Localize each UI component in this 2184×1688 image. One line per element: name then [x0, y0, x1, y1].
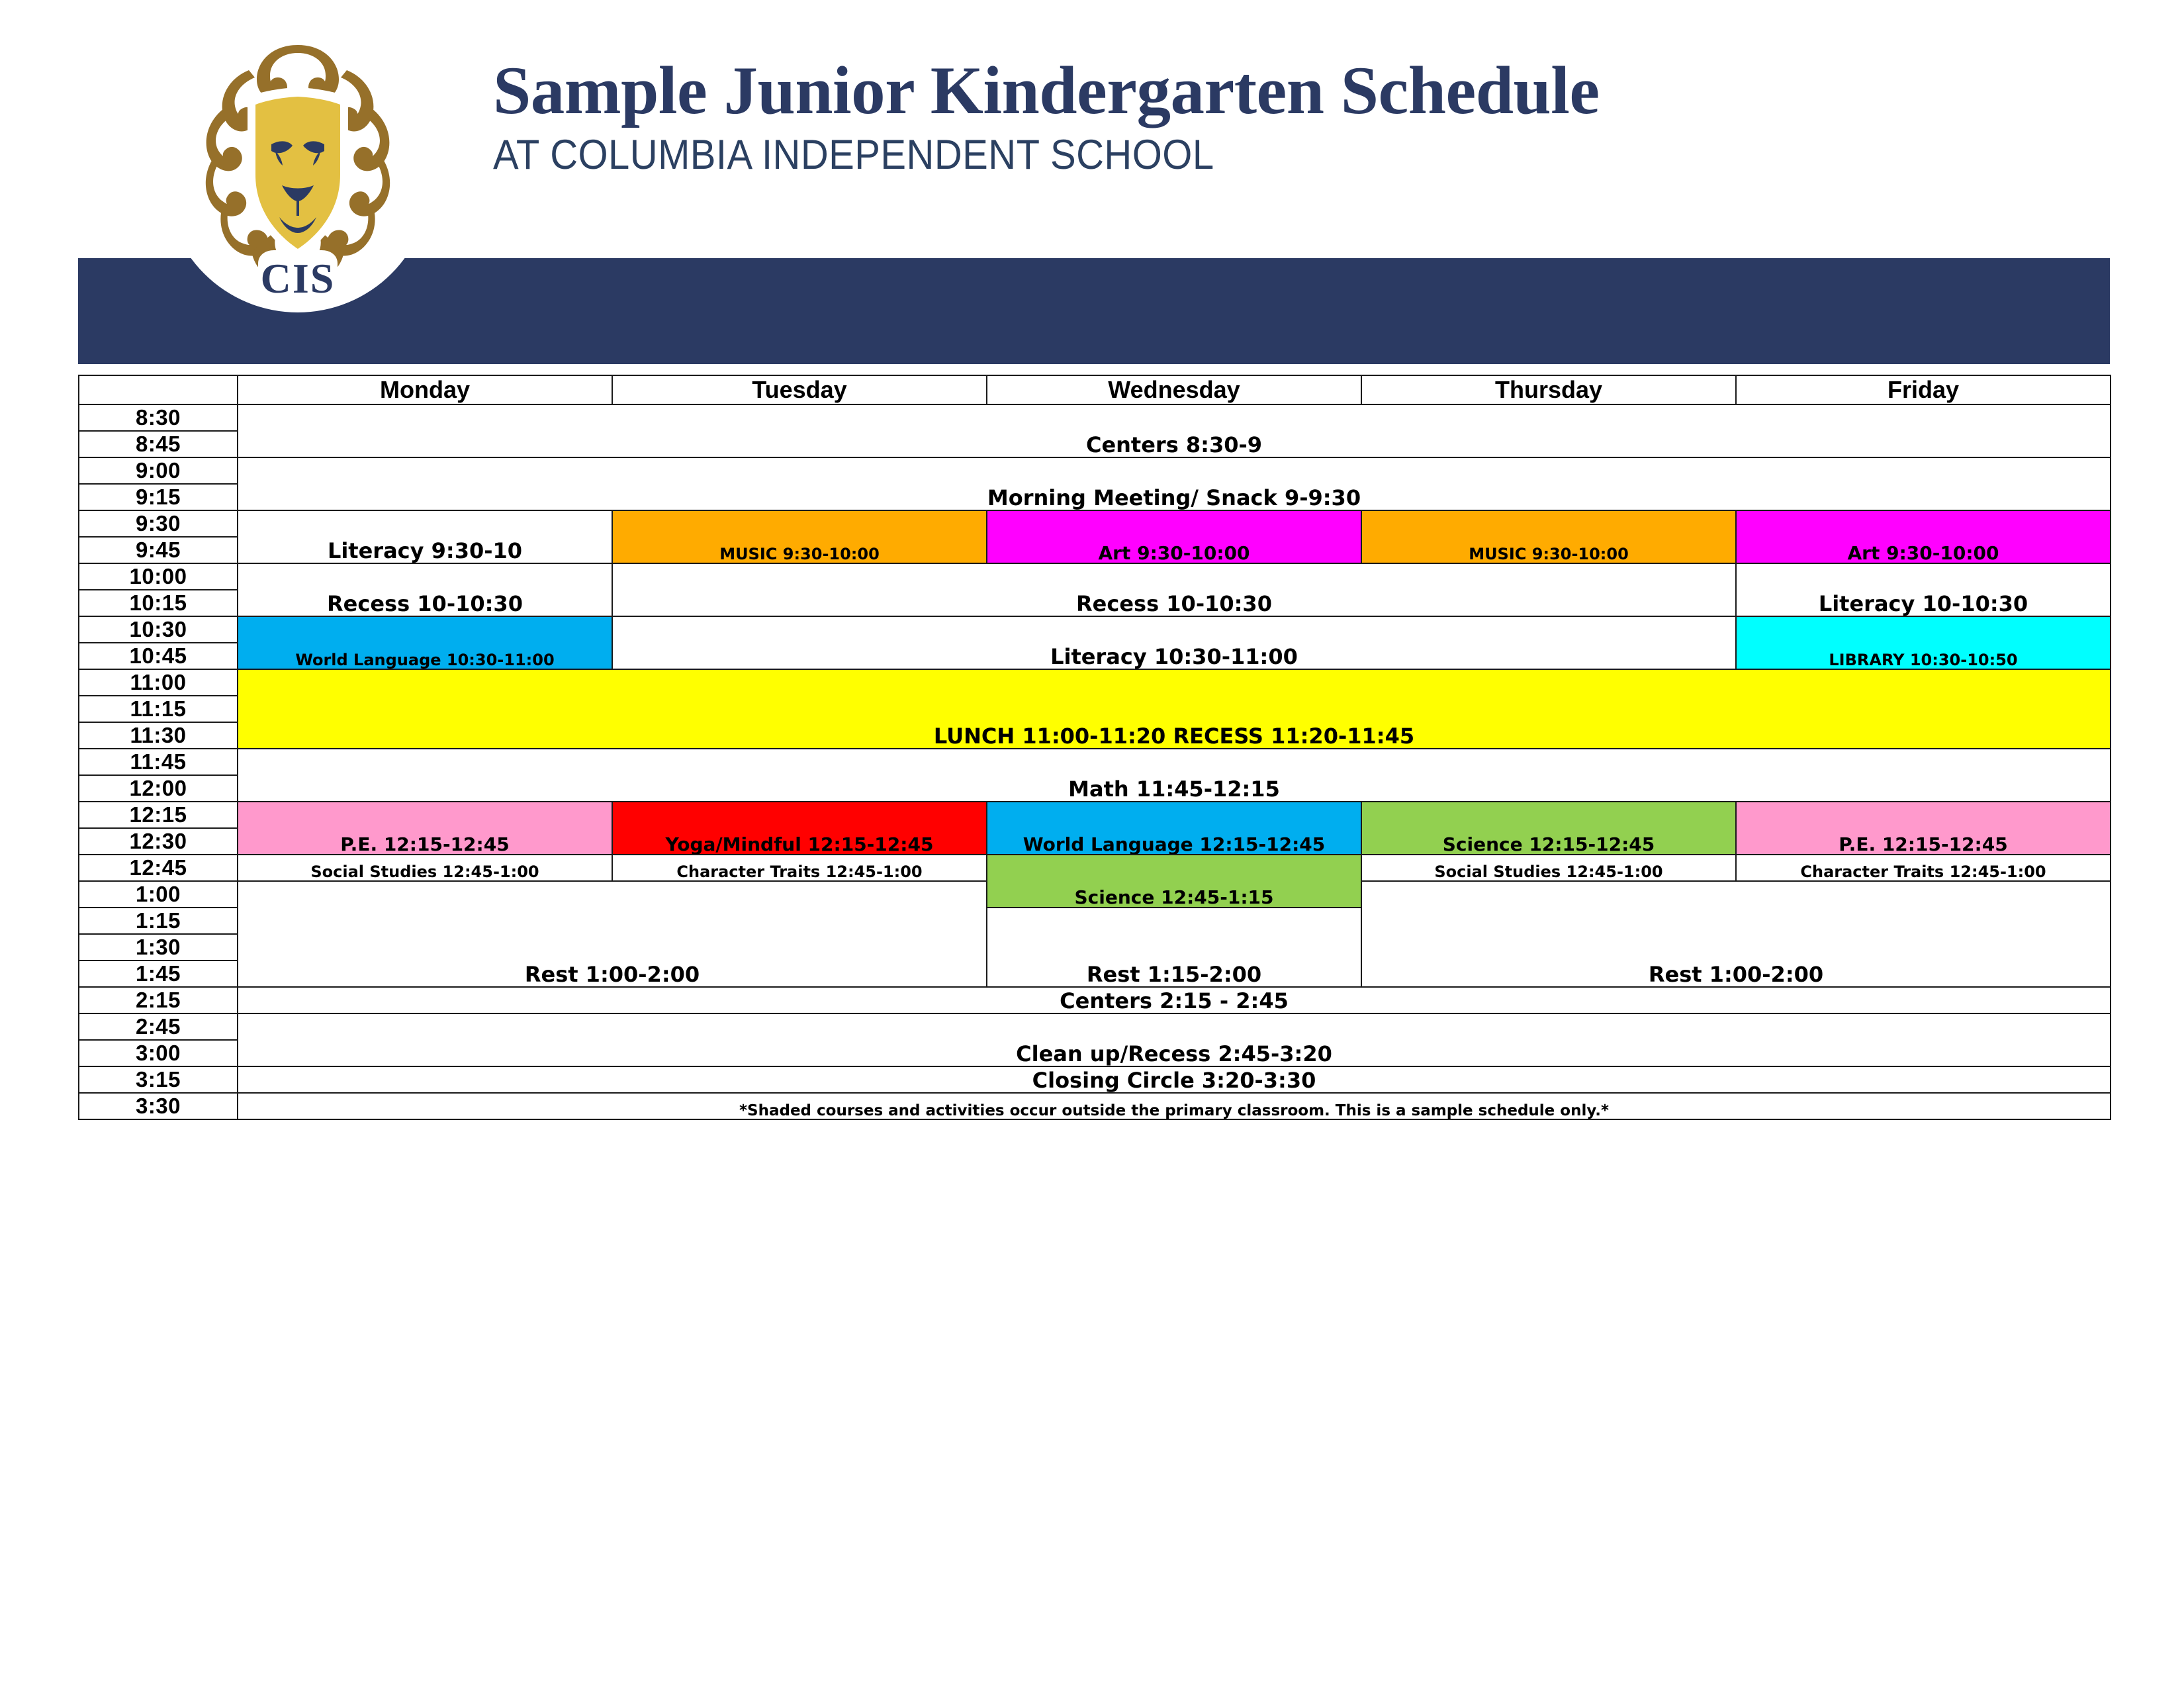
- cell-literacy-midweek: Literacy 10:30-11:00: [612, 616, 1736, 669]
- cell-pe-friday: P.E. 12:15-12:45: [1736, 802, 2111, 855]
- svg-text:CIS: CIS: [261, 255, 336, 302]
- table-row: 2:45 Clean up/Recess 2:45-3:20: [79, 1013, 2111, 1040]
- cell-math: Math 11:45-12:15: [238, 749, 2111, 802]
- cell-art-wednesday: Art 9:30-10:00: [987, 510, 1361, 563]
- cell-rest-wednesday: Rest 1:15-2:00: [987, 908, 1361, 987]
- column-header-tuesday: Tuesday: [612, 375, 987, 404]
- cell-recess-monday: Recess 10-10:30: [238, 563, 612, 616]
- cell-literacy-friday: Literacy 10-10:30: [1736, 563, 2111, 616]
- time-label: 11:00: [79, 669, 238, 696]
- column-header-friday: Friday: [1736, 375, 2111, 404]
- table-row: 9:00 Morning Meeting/ Snack 9-9:30: [79, 457, 2111, 484]
- cell-rest-thu-fri: Rest 1:00-2:00: [1361, 881, 2111, 987]
- time-label: 12:45: [79, 855, 238, 881]
- cell-closing-circle: Closing Circle 3:20-3:30: [238, 1066, 2111, 1093]
- column-header-wednesday: Wednesday: [987, 375, 1361, 404]
- cell-recess-midweek: Recess 10-10:30: [612, 563, 1736, 616]
- cell-world-language-wednesday: World Language 12:15-12:45: [987, 802, 1361, 855]
- time-label: 12:15: [79, 802, 238, 828]
- time-label: 2:45: [79, 1013, 238, 1040]
- cell-social-studies-thursday: Social Studies 12:45-1:00: [1361, 855, 1736, 881]
- table-row: 12:15 P.E. 12:15-12:45 Yoga/Mindful 12:1…: [79, 802, 2111, 828]
- time-label: 12:30: [79, 828, 238, 855]
- cis-lion-logo: CIS: [159, 26, 437, 331]
- time-label: 9:30: [79, 510, 238, 537]
- table-row: 9:30 Literacy 9:30-10 MUSIC 9:30-10:00 A…: [79, 510, 2111, 537]
- title-block: Sample Junior Kindergarten Schedule AT C…: [493, 56, 1600, 179]
- table-row: 3:15 Closing Circle 3:20-3:30: [79, 1066, 2111, 1093]
- time-label: 1:15: [79, 908, 238, 934]
- time-label: 12:00: [79, 775, 238, 802]
- cell-footnote: *Shaded courses and activities occur out…: [238, 1093, 2111, 1119]
- cell-yoga-tuesday: Yoga/Mindful 12:15-12:45: [612, 802, 987, 855]
- page-subtitle: AT COLUMBIA INDEPENDENT SCHOOL: [493, 131, 1511, 179]
- table-header-row: Monday Tuesday Wednesday Thursday Friday: [79, 375, 2111, 404]
- cell-character-traits-friday: Character Traits 12:45-1:00: [1736, 855, 2111, 881]
- time-label: 8:30: [79, 404, 238, 431]
- time-label: 10:15: [79, 590, 238, 616]
- cell-character-traits-tuesday: Character Traits 12:45-1:00: [612, 855, 987, 881]
- cell-rest-mon-tue: Rest 1:00-2:00: [238, 881, 987, 987]
- time-label: 10:30: [79, 616, 238, 643]
- table-row: 11:45 Math 11:45-12:15: [79, 749, 2111, 775]
- time-label: 11:15: [79, 696, 238, 722]
- cell-music-thursday: MUSIC 9:30-10:00: [1361, 510, 1736, 563]
- cell-lunch-recess: LUNCH 11:00-11:20 RECESS 11:20-11:45: [238, 669, 2111, 749]
- table-row: 11:00 LUNCH 11:00-11:20 RECESS 11:20-11:…: [79, 669, 2111, 696]
- corner-cell: [79, 375, 238, 404]
- time-label: 1:00: [79, 881, 238, 908]
- time-label: 1:45: [79, 961, 238, 987]
- time-label: 8:45: [79, 431, 238, 457]
- table-row: 2:15 Centers 2:15 - 2:45: [79, 987, 2111, 1013]
- cell-art-friday: Art 9:30-10:00: [1736, 510, 2111, 563]
- time-label: 2:15: [79, 987, 238, 1013]
- cell-science-thursday: Science 12:15-12:45: [1361, 802, 1736, 855]
- cell-pe-monday: P.E. 12:15-12:45: [238, 802, 612, 855]
- time-label: 11:45: [79, 749, 238, 775]
- column-header-monday: Monday: [238, 375, 612, 404]
- cell-science-wednesday: Science 12:45-1:15: [987, 855, 1361, 908]
- time-label: 10:00: [79, 563, 238, 590]
- time-label: 1:30: [79, 934, 238, 961]
- time-label: 3:00: [79, 1040, 238, 1066]
- table-row: 10:30 World Language 10:30-11:00 Literac…: [79, 616, 2111, 643]
- cell-centers-am: Centers 8:30-9: [238, 404, 2111, 457]
- cell-morning-meeting: Morning Meeting/ Snack 9-9:30: [238, 457, 2111, 510]
- time-label: 9:45: [79, 537, 238, 563]
- page-title: Sample Junior Kindergarten Schedule: [493, 56, 1600, 126]
- time-label: 10:45: [79, 643, 238, 669]
- time-label: 3:30: [79, 1093, 238, 1119]
- time-label: 9:00: [79, 457, 238, 484]
- schedule-table: Monday Tuesday Wednesday Thursday Friday…: [78, 375, 2111, 1120]
- cell-music-tuesday: MUSIC 9:30-10:00: [612, 510, 987, 563]
- cell-world-language-monday: World Language 10:30-11:00: [238, 616, 612, 669]
- cell-social-studies-monday: Social Studies 12:45-1:00: [238, 855, 612, 881]
- cell-centers-pm: Centers 2:15 - 2:45: [238, 987, 2111, 1013]
- cell-literacy-monday: Literacy 9:30-10: [238, 510, 612, 563]
- time-label: 3:15: [79, 1066, 238, 1093]
- table-row: 3:30 *Shaded courses and activities occu…: [79, 1093, 2111, 1119]
- table-row: 8:30 Centers 8:30-9: [79, 404, 2111, 431]
- time-label: 9:15: [79, 484, 238, 510]
- cell-cleanup-recess: Clean up/Recess 2:45-3:20: [238, 1013, 2111, 1066]
- cell-library-friday: LIBRARY 10:30-10:50: [1736, 616, 2111, 669]
- column-header-thursday: Thursday: [1361, 375, 1736, 404]
- table-row: 12:45 Social Studies 12:45-1:00 Characte…: [79, 855, 2111, 881]
- time-label: 11:30: [79, 722, 238, 749]
- page-header: CIS Sample Junior Kindergarten Schedule …: [0, 0, 2184, 371]
- table-row: 10:00 Recess 10-10:30 Recess 10-10:30 Li…: [79, 563, 2111, 590]
